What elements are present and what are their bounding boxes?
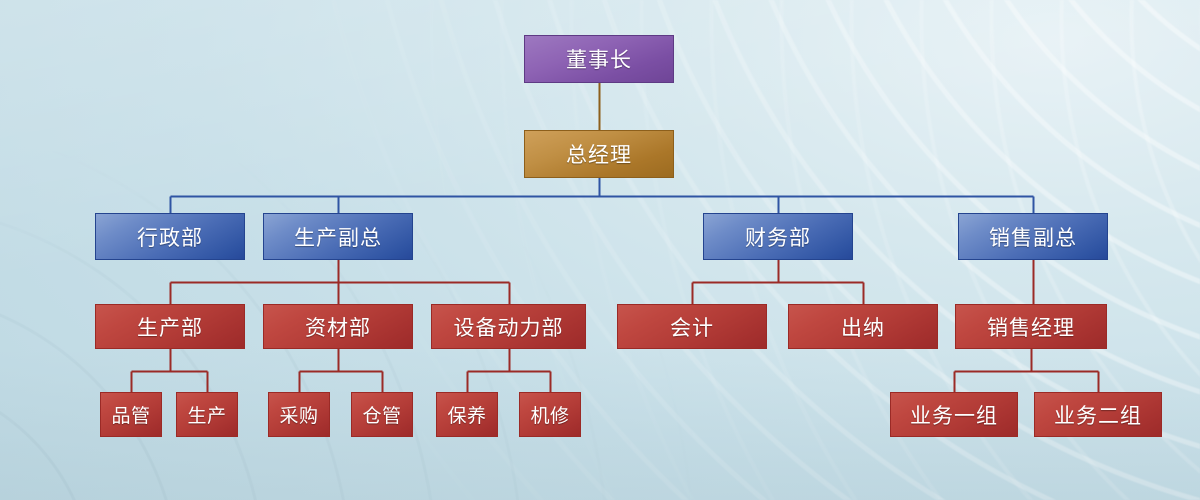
org-node-salesvp[interactable]: 销售副总 <box>958 213 1108 260</box>
org-node-label: 采购 <box>279 401 318 428</box>
org-node-chairman[interactable]: 董事长 <box>524 35 674 83</box>
org-node-qc[interactable]: 品管 <box>100 392 162 437</box>
org-node-accounting[interactable]: 会计 <box>617 304 767 349</box>
org-node-label: 保养 <box>447 401 486 428</box>
org-node-label: 董事长 <box>566 44 632 74</box>
org-node-admin[interactable]: 行政部 <box>95 213 245 260</box>
org-node-label: 行政部 <box>137 222 203 252</box>
org-node-label: 销售经理 <box>987 312 1075 342</box>
org-node-team2[interactable]: 业务二组 <box>1034 392 1162 437</box>
org-node-label: 生产副总 <box>294 222 382 252</box>
org-node-gm[interactable]: 总经理 <box>524 130 674 178</box>
org-node-label: 业务一组 <box>910 400 998 430</box>
org-node-prodvp[interactable]: 生产副总 <box>263 213 413 260</box>
org-node-equipment[interactable]: 设备动力部 <box>431 304 586 349</box>
org-node-label: 资材部 <box>305 312 371 342</box>
org-node-label: 机修 <box>530 401 569 428</box>
org-chart-canvas: 董事长总经理行政部生产副总财务部销售副总生产部资材部设备动力部会计出纳销售经理品… <box>0 0 1200 500</box>
org-node-team1[interactable]: 业务一组 <box>890 392 1018 437</box>
org-node-repair[interactable]: 机修 <box>519 392 581 437</box>
org-node-material[interactable]: 资材部 <box>263 304 413 349</box>
org-node-label: 财务部 <box>745 222 811 252</box>
org-node-label: 出纳 <box>841 312 885 342</box>
org-node-mfg[interactable]: 生产 <box>176 392 238 437</box>
org-node-label: 会计 <box>670 312 714 342</box>
org-node-label: 仓管 <box>362 401 401 428</box>
org-node-maintain[interactable]: 保养 <box>436 392 498 437</box>
org-node-salesmgr[interactable]: 销售经理 <box>955 304 1107 349</box>
org-node-label: 品管 <box>111 401 150 428</box>
org-node-prod[interactable]: 生产部 <box>95 304 245 349</box>
org-node-finance[interactable]: 财务部 <box>703 213 853 260</box>
org-node-label: 设备动力部 <box>454 312 564 342</box>
org-node-label: 生产 <box>187 401 226 428</box>
org-node-warehouse[interactable]: 仓管 <box>351 392 413 437</box>
org-node-label: 销售副总 <box>989 222 1077 252</box>
org-node-label: 生产部 <box>137 312 203 342</box>
org-node-label: 总经理 <box>566 139 632 169</box>
org-node-label: 业务二组 <box>1054 400 1142 430</box>
org-node-purchase[interactable]: 采购 <box>268 392 330 437</box>
org-node-cashier[interactable]: 出纳 <box>788 304 938 349</box>
